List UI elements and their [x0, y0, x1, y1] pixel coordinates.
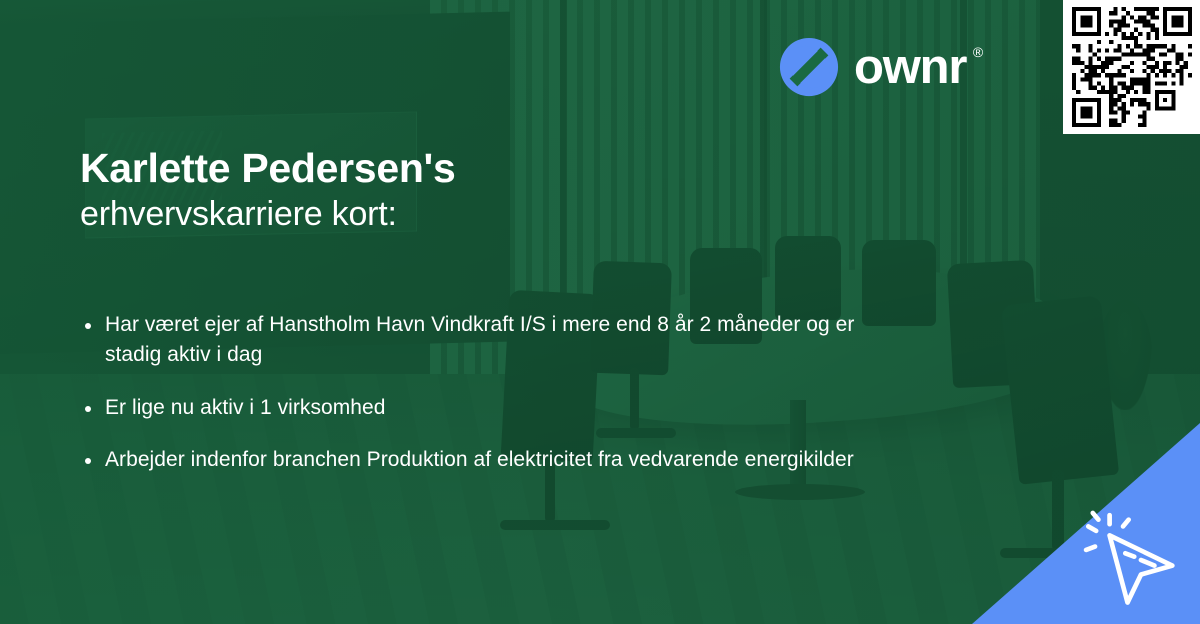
qr-code-graphic	[1072, 7, 1192, 127]
list-item: Arbejder indenfor branchen Produktion af…	[82, 445, 865, 475]
business-career-card: ownr® Karlette Pedersen's erhvervskarrie…	[0, 0, 1200, 624]
qr-code[interactable]	[1063, 0, 1200, 134]
ownr-wordmark-text: ownr	[854, 40, 966, 94]
list-item: Har været ejer af Hanstholm Havn Vindkra…	[82, 310, 865, 371]
click-cursor-icon	[1076, 504, 1188, 616]
ownr-wordmark: ownr®	[854, 43, 966, 92]
registered-trademark-symbol: ®	[973, 45, 983, 59]
career-facts-list: Har været ejer af Hanstholm Havn Vindkra…	[82, 310, 902, 476]
ownr-swirl-logo-icon	[778, 36, 840, 98]
ownr-logo[interactable]: ownr®	[778, 36, 966, 98]
headline-block: Karlette Pedersen's erhvervskarriere kor…	[80, 148, 940, 233]
list-item: Er lige nu aktiv i 1 virksomhed	[82, 393, 865, 423]
page-title: Karlette Pedersen's	[80, 148, 940, 189]
page-subtitle: erhvervskarriere kort:	[80, 195, 940, 233]
